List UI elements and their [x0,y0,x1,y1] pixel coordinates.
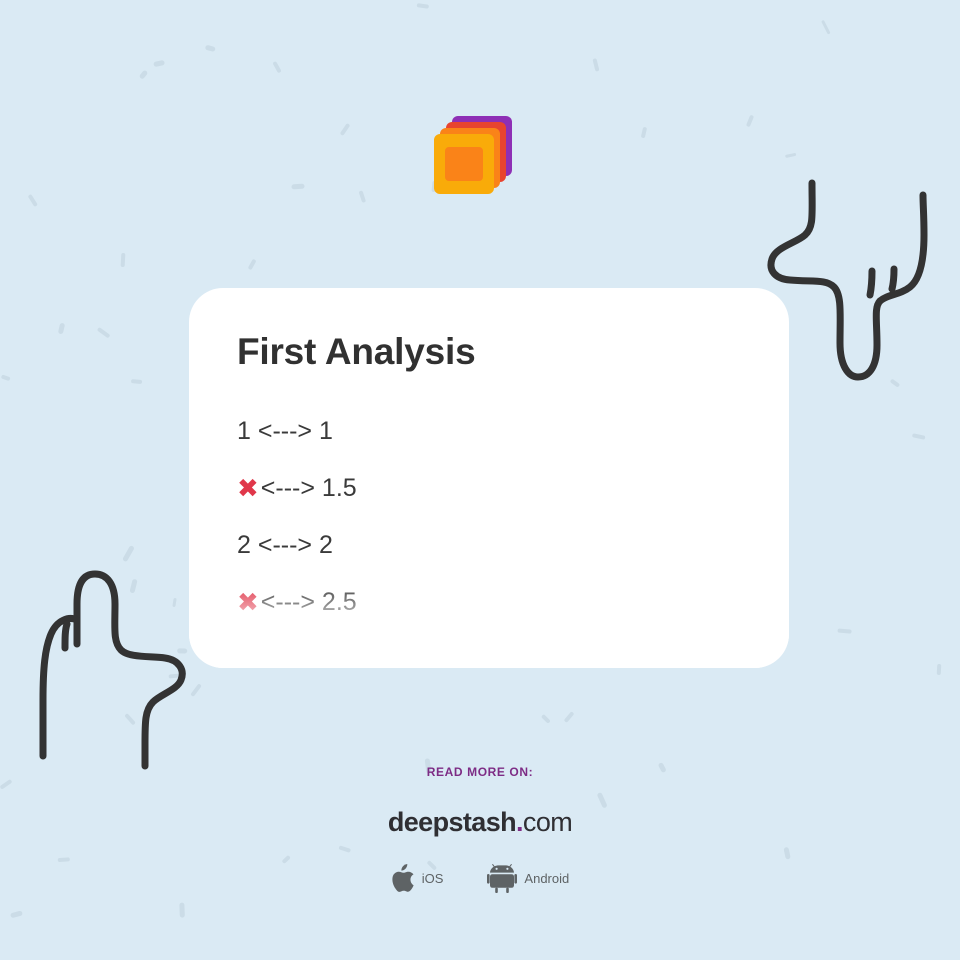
brand-dot: . [516,807,523,837]
analysis-row: 1 <---> 1 [237,403,741,460]
confetti-dash [247,259,256,271]
confetti-dash [28,194,38,207]
analysis-row-text: 3 <---> 3 [237,647,333,668]
confetti-dash [912,433,925,439]
pointing-hand-left-icon [25,560,205,775]
confetti-dash [10,911,23,919]
analysis-row-list: 1 <---> 1✖<---> 1.52 <---> 2✖<---> 2.53 … [237,403,741,668]
page-title: First Analysis [237,332,741,373]
brand-wordmark[interactable]: deepstash.com [0,807,960,838]
android-label: Android [524,871,569,886]
app-store-badges: iOS Android [0,864,960,893]
read-more-label: READ MORE ON: [0,765,960,779]
android-icon [487,864,517,893]
deepstash-logo [428,104,520,196]
confetti-dash [1,374,11,380]
confetti-dash [180,903,185,918]
confetti-dash [132,379,143,383]
cross-mark-icon: ✖ [237,475,259,501]
analysis-row: 2 <---> 2 [237,517,741,574]
confetti-dash [746,114,754,127]
android-badge[interactable]: Android [487,864,569,893]
content-card: First Analysis 1 <---> 1✖<---> 1.52 <---… [189,288,789,668]
footer: READ MORE ON: deepstash.com iOS [0,765,960,893]
confetti-dash [784,153,796,159]
confetti-dash [97,328,110,339]
confetti-dash [138,70,147,80]
confetti-dash [937,664,941,675]
confetti-dash [272,60,281,73]
cross-mark-icon: ✖ [237,589,259,615]
analysis-row-text: <---> 1.5 [261,476,357,501]
confetti-dash [821,20,831,35]
confetti-dash [641,127,647,138]
confetti-dash [541,714,551,724]
analysis-row-text: 2 <---> 2 [237,533,333,558]
analysis-row: ✖<---> 1.5 [237,460,741,517]
confetti-dash [153,60,164,67]
apple-icon [391,864,415,893]
confetti-dash [563,712,574,724]
analysis-row-text: <---> 2.5 [261,590,357,615]
confetti-dash [416,3,428,8]
ios-label: iOS [422,871,444,886]
confetti-dash [593,58,600,72]
analysis-row: ✖<---> 2.5 [237,574,741,631]
confetti-dash [204,44,215,51]
brand-tld: com [523,807,572,837]
brand-name: deepstash [388,807,516,837]
confetti-dash [120,253,124,267]
confetti-dash [58,322,65,334]
analysis-row: 3 <---> 3 [237,631,741,668]
confetti-dash [340,123,351,136]
analysis-row-text: 1 <---> 1 [237,419,333,444]
confetti-dash [838,629,852,634]
poster-canvas: First Analysis 1 <---> 1✖<---> 1.52 <---… [0,0,960,960]
confetti-dash [292,184,305,189]
ios-badge[interactable]: iOS [391,864,444,893]
confetti-dash [358,191,366,203]
